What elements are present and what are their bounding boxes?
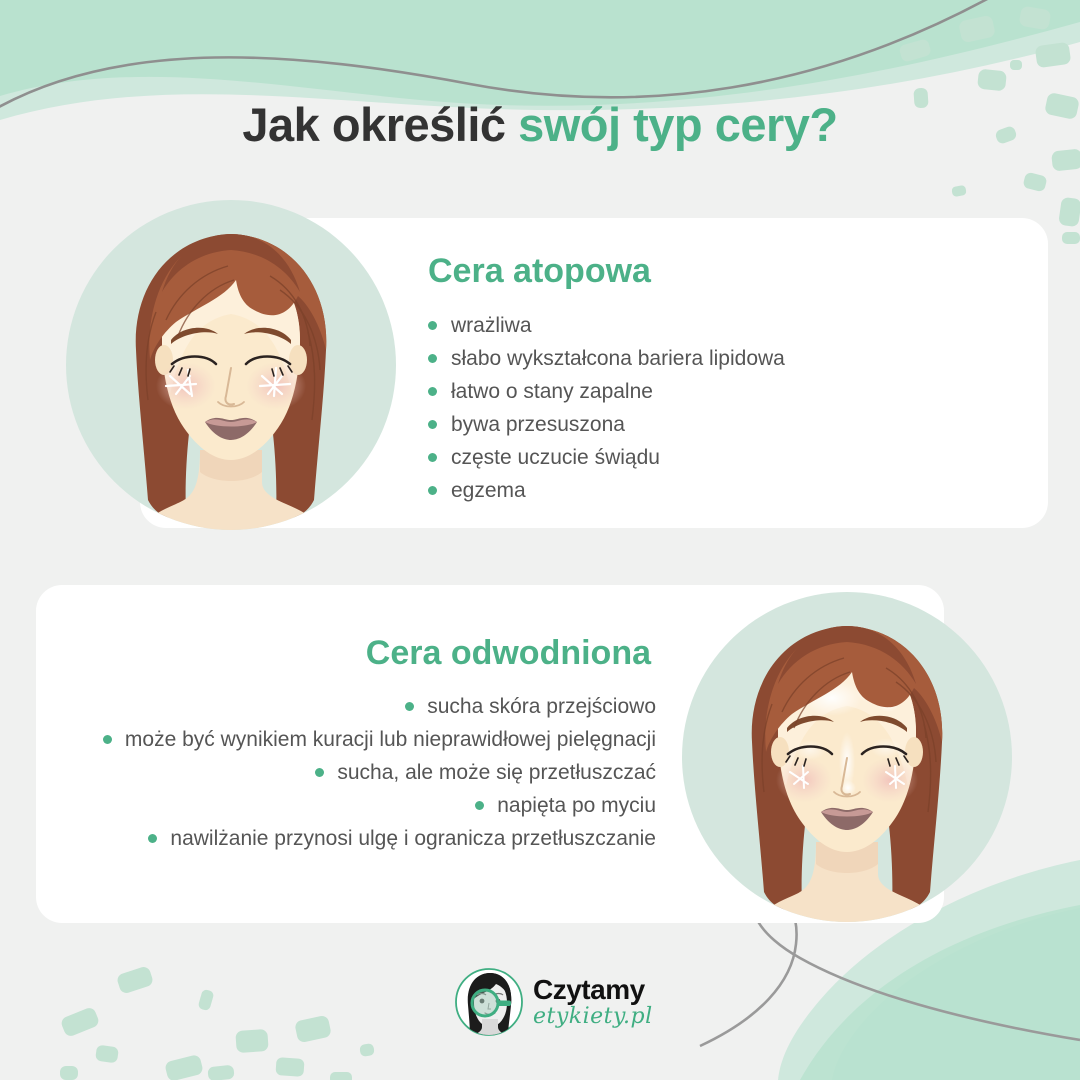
list-item-label: bywa przesuszona [451,408,625,441]
card-heading-odwodniona: Cera odwodniona [0,634,651,673]
bullet-dot-icon [428,486,437,495]
woman-with-magnifier-logo-icon [452,965,526,1039]
list-item: łatwo o stany zapalne [428,375,785,408]
page-title-green-part: swój typ cery? [518,98,838,151]
list-item: częste uczucie świądu [428,441,785,474]
list-item-label: słabo wykształcona bariera lipidowa [451,342,785,375]
list-item-label: napięta po myciu [497,789,656,822]
gray-curve-line-top [0,0,1000,112]
bullet-dot-icon [103,735,112,744]
list-item-label: łatwo o stany zapalne [451,375,653,408]
card-heading-atopowa: Cera atopowa [428,252,651,291]
bullet-dot-icon [428,420,437,429]
list-item-label: wrażliwa [451,309,532,342]
bullet-dot-icon [405,702,414,711]
bullet-dot-icon [428,387,437,396]
logo-word-secondary: etykiety.pl [533,1006,653,1028]
list-item-label: nawilżanie przynosi ulgę i ogranicza prz… [170,822,656,855]
list-item-label: sucha skóra przejściowo [427,690,656,723]
bullet-dot-icon [475,801,484,810]
page-title-dark-part: Jak określić [242,98,505,151]
list-item-label: może być wynikiem kuracji lub nieprawidł… [125,723,656,756]
list-item: sucha, ale może się przetłuszczać [0,756,656,789]
page-title: Jak określić swój typ cery? [0,97,1080,152]
list-item: egzema [428,474,785,507]
list-item: sucha skóra przejściowo [0,690,656,723]
feature-list-odwodniona: sucha skóra przejściowo może być wynikie… [0,690,656,855]
list-item-label: sucha, ale może się przetłuszczać [337,756,656,789]
woman-face-dehydrated-skin-illustration [682,592,1012,922]
bullet-dot-icon [428,321,437,330]
list-item-label: częste uczucie świądu [451,441,660,474]
list-item: może być wynikiem kuracji lub nieprawidł… [0,723,656,756]
woman-face-atopic-skin-illustration [66,200,396,530]
bullet-dot-icon [428,354,437,363]
logo-wordmark: Czytamy etykiety.pl [533,976,653,1028]
mint-confetti-shapes-bottom [60,965,375,1080]
list-item: wrażliwa [428,309,785,342]
infographic-canvas: Jak określić swój typ cery? [0,0,1080,1080]
list-item: bywa przesuszona [428,408,785,441]
list-item: napięta po myciu [0,789,656,822]
list-item: słabo wykształcona bariera lipidowa [428,342,785,375]
logo-word-primary: Czytamy [533,976,653,1004]
bullet-dot-icon [148,834,157,843]
brand-logo: Czytamy etykiety.pl [452,963,652,1041]
bullet-dot-icon [428,453,437,462]
list-item: nawilżanie przynosi ulgę i ogranicza prz… [0,822,656,855]
feature-list-atopowa: wrażliwa słabo wykształcona bariera lipi… [428,309,785,507]
bullet-dot-icon [315,768,324,777]
list-item-label: egzema [451,474,526,507]
